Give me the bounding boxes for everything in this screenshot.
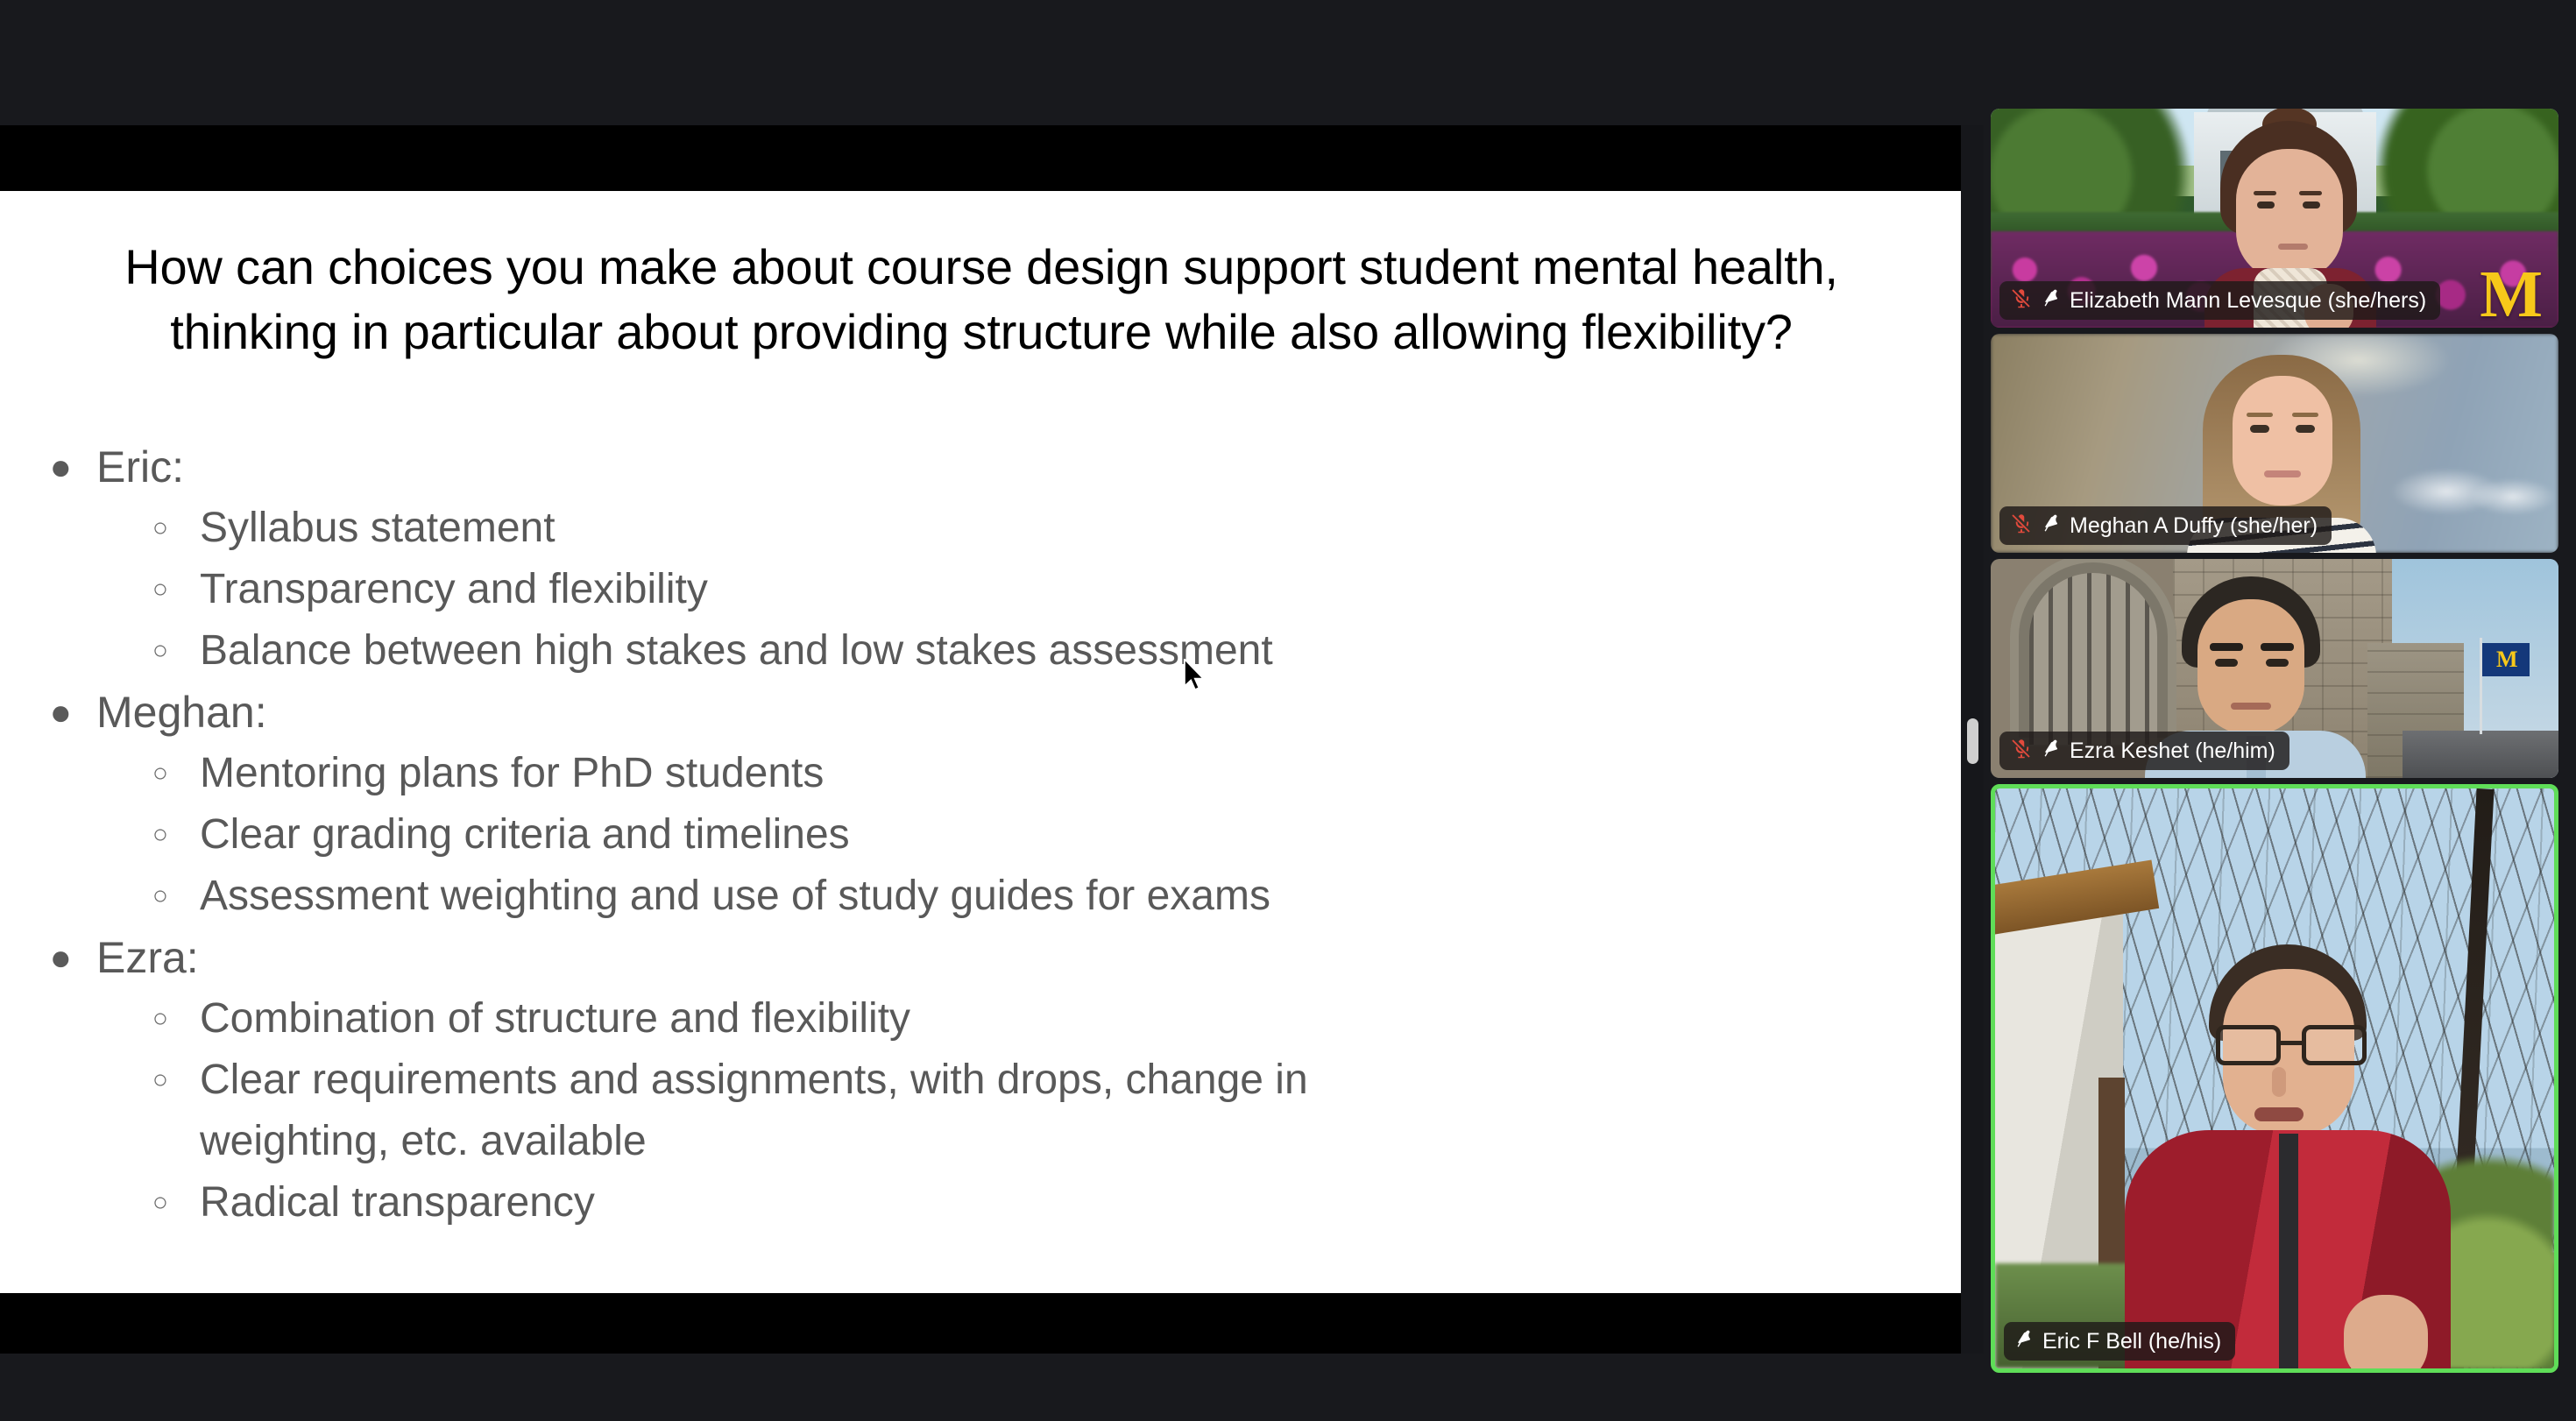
sub-bullet-item: ○ Clear requirements and assignments, wi… [0,1050,1961,1172]
participant-name: Meghan A Duffy (she/her) [2070,506,2318,545]
michigan-flag-letter: M [2496,648,2518,671]
participant-name: Elizabeth Mann Levesque (she/hers) [2070,281,2426,320]
bullet-label: Meghan: [96,682,267,743]
presentation-slide[interactable]: How can choices you make about course de… [0,191,1961,1293]
participant-filmstrip: M Elizabeth Mann Lev [1991,109,2558,1373]
sub-bullet-text: Transparency and flexibility [200,559,708,620]
sub-bullet-item: ○ Syllabus statement [0,498,1961,559]
sub-bullet-text: Assessment weighting and use of study gu… [200,866,1270,927]
sub-bullet-item: ○ Balance between high stakes and low st… [0,620,1961,682]
bullet-marker-level1: ● [0,682,96,743]
shared-screen-region[interactable]: How can choices you make about course de… [0,125,1961,1354]
bullet-marker-level1: ● [0,436,96,498]
sub-bullet-text: Combination of structure and flexibility [200,988,910,1050]
sub-bullet-item: ○ Assessment weighting and use of study … [0,866,1961,927]
participant-name: Eric F Bell (he/his) [2042,1322,2221,1361]
sub-bullet-text: Clear requirements and assignments, with… [200,1050,1444,1172]
bullet-marker-level2: ○ [0,866,200,927]
michigan-logo-watermark: M [2480,261,2543,328]
bullet-marker-level2: ○ [0,1172,200,1234]
microphone-muted-icon [2010,737,2033,766]
sub-bullet-text: Balance between high stakes and low stak… [200,620,1273,682]
pin-icon [2014,1328,2034,1355]
slide-bullet-list: ● Eric: ○ Syllabus statement ○ Transpare… [0,436,1961,1234]
bullet-marker-level2: ○ [0,620,200,682]
participant-nameplate: Eric F Bell (he/his) [2004,1322,2235,1361]
participant-video [1995,788,2554,1368]
bullet-section: ● Meghan: [0,682,1961,743]
pin-icon [2042,287,2061,315]
participant-nameplate: Meghan A Duffy (she/her) [1999,506,2332,545]
sub-bullet-item: ○ Mentoring plans for PhD students [0,743,1961,804]
slide-title: How can choices you make about course de… [105,235,1858,364]
sub-bullet-item: ○ Clear grading criteria and timelines [0,804,1961,866]
bullet-section: ● Ezra: [0,927,1961,988]
bullet-label: Ezra: [96,927,199,988]
pin-icon [2042,513,2061,540]
sub-bullet-text: Radical transparency [200,1172,595,1234]
bullet-marker-level2: ○ [0,804,200,866]
sub-bullet-text: Syllabus statement [200,498,556,559]
sub-bullet-text: Clear grading criteria and timelines [200,804,850,866]
bullet-marker-level2: ○ [0,559,200,620]
bullet-marker-level2: ○ [0,498,200,559]
sub-bullet-item: ○ Radical transparency [0,1172,1961,1234]
participant-tile[interactable]: M [1991,559,2558,778]
bullet-marker-level1: ● [0,927,96,988]
zoom-meeting-window: How can choices you make about course de… [0,0,2576,1421]
sub-bullet-item: ○ Combination of structure and flexibili… [0,988,1961,1050]
resize-handle[interactable] [1967,718,1978,764]
bullet-marker-level2: ○ [0,743,200,804]
participant-tile[interactable]: Meghan A Duffy (she/her) [1991,334,2558,553]
bullet-marker-level2: ○ [0,988,200,1050]
microphone-muted-icon [2010,512,2033,541]
bullet-label: Eric: [96,436,184,498]
participant-tile-active-speaker[interactable]: Eric F Bell (he/his) [1991,784,2558,1373]
participant-nameplate: Elizabeth Mann Levesque (she/hers) [1999,281,2440,320]
bullet-marker-level2: ○ [0,1050,200,1111]
sub-bullet-text: Mentoring plans for PhD students [200,743,824,804]
bullet-section: ● Eric: [0,436,1961,498]
microphone-muted-icon [2010,286,2033,315]
pin-icon [2042,738,2061,765]
participant-name: Ezra Keshet (he/him) [2070,732,2275,770]
participant-tile[interactable]: M Elizabeth Mann Lev [1991,109,2558,328]
participant-nameplate: Ezra Keshet (he/him) [1999,732,2289,770]
sub-bullet-item: ○ Transparency and flexibility [0,559,1961,620]
